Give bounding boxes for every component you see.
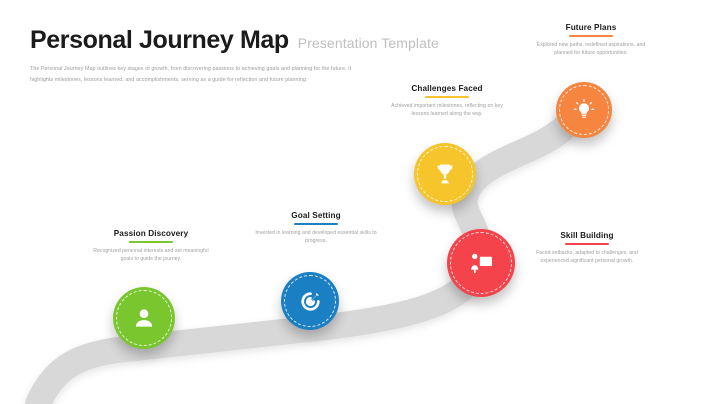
title-underline [569,35,613,37]
milestone-description: Faced setbacks, adapted to challenges, a… [523,249,651,267]
intro-paragraph: The Personal Journey Map outlines key st… [30,64,355,86]
title-underline [294,223,338,225]
milestone-description: Recognized personal interests and set me… [90,247,212,265]
milestone-label-goal-setting: Goal Setting Invested in learning and de… [255,211,377,246]
person-icon [131,305,157,331]
milestone-title: Future Plans [528,23,654,32]
presentation-icon [467,249,495,277]
slide-header: Personal Journey Map Presentation Templa… [30,26,460,91]
page-subtitle: Presentation Template [298,35,439,51]
journey-map-slide: Personal Journey Map Presentation Templa… [0,0,720,404]
milestone-description: Achieved important milestones, reflectin… [382,102,512,120]
milestone-description: Explored new paths, redefined aspiration… [528,41,654,59]
trophy-icon [432,161,458,187]
milestone-label-future-plans: Future Plans Explored new paths, redefin… [528,23,654,58]
milestone-title: Goal Setting [255,211,377,220]
milestone-label-passion-discovery: Passion Discovery Recognized personal in… [90,229,212,264]
target-icon [298,289,323,314]
milestone-label-skill-building: Skill Building Faced setbacks, adapted t… [523,231,651,266]
milestone-title: Skill Building [523,231,651,240]
milestone-title: Passion Discovery [90,229,212,238]
title-underline [425,96,469,98]
milestone-icon-circle-challenges-faced[interactable] [414,143,476,205]
page-title: Personal Journey Map [30,26,289,55]
title-underline [129,241,173,243]
milestone-description: Invested in learning and developed essen… [255,229,377,247]
milestone-icon-circle-future-plans[interactable] [556,82,612,138]
milestone-icon-circle-passion-discovery[interactable] [113,287,175,349]
lightbulb-icon [572,98,596,122]
milestone-icon-circle-goal-setting[interactable] [281,272,339,330]
title-underline [565,243,609,245]
milestone-icon-circle-skill-building[interactable] [447,229,515,297]
title-row: Personal Journey Map Presentation Templa… [30,26,460,55]
